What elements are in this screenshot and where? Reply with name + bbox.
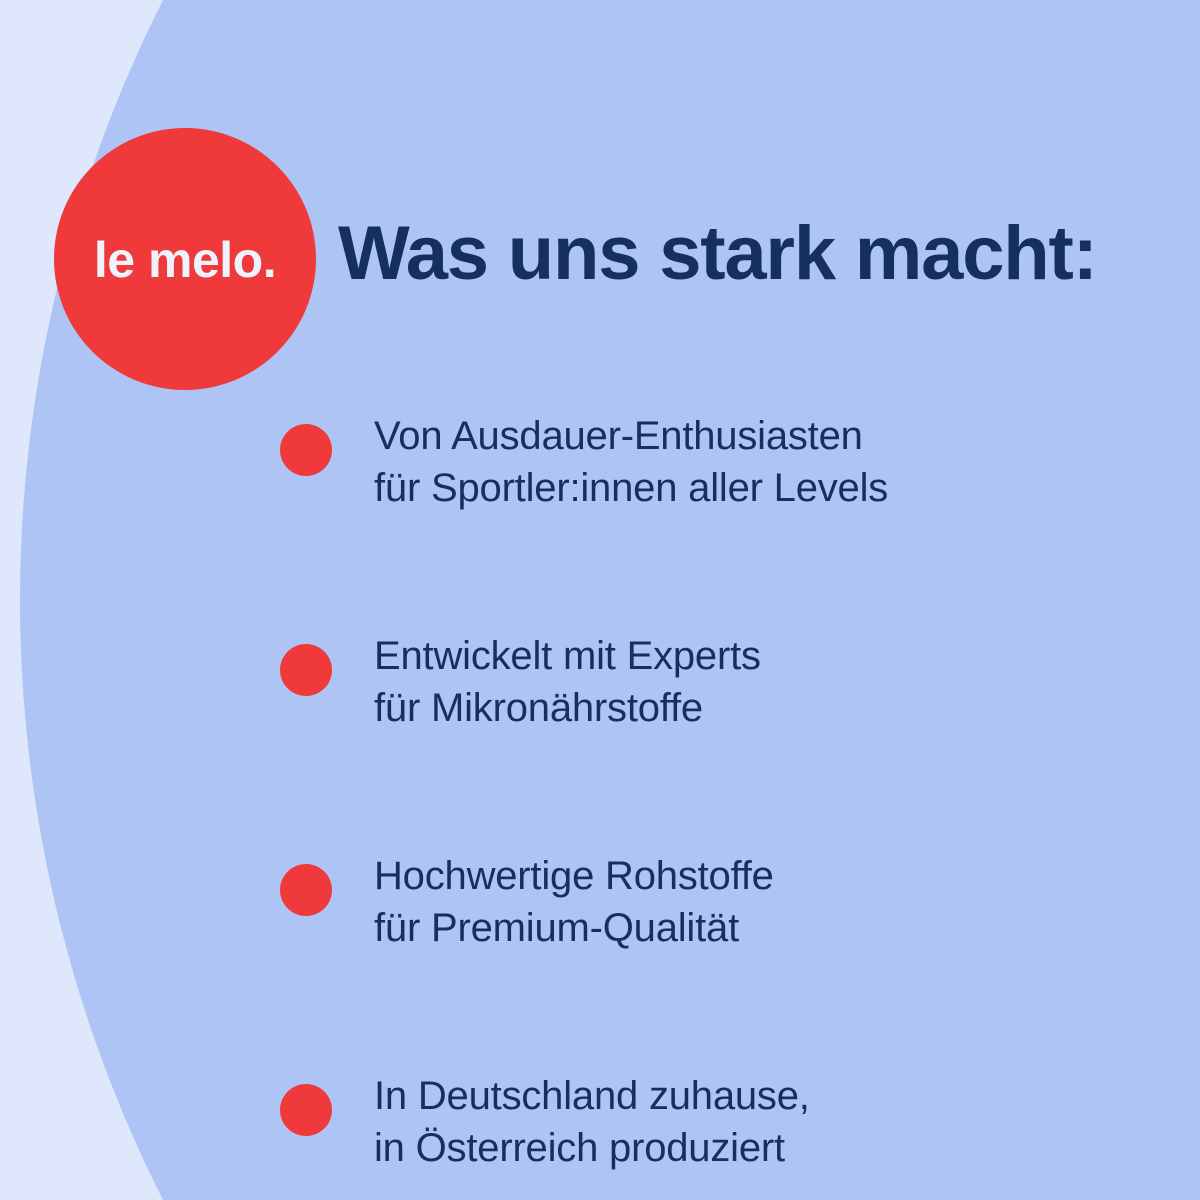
- list-item-line-2: für Premium-Qualität: [374, 902, 774, 954]
- list-item: In Deutschland zuhause, in Österreich pr…: [280, 1070, 1140, 1174]
- list-item-line-1: In Deutschland zuhause,: [374, 1070, 810, 1122]
- list-item-line-1: Hochwertige Rohstoffe: [374, 850, 774, 902]
- list-item-text: Hochwertige Rohstoffe für Premium-Qualit…: [374, 850, 774, 954]
- list-item-text: In Deutschland zuhause, in Österreich pr…: [374, 1070, 810, 1174]
- bullet-dot-icon: [280, 864, 332, 916]
- brand-logo-text: le melo.: [94, 235, 276, 285]
- list-item: Von Ausdauer-Enthusiasten für Sportler:i…: [280, 410, 1140, 514]
- list-item-line-1: Von Ausdauer-Enthusiasten: [374, 410, 888, 462]
- bullet-dot-icon: [280, 1084, 332, 1136]
- promo-graphic: le melo. Was uns stark macht: Von Ausdau…: [0, 0, 1200, 1200]
- benefits-list: Von Ausdauer-Enthusiasten für Sportler:i…: [280, 410, 1140, 1174]
- brand-logo-badge: le melo.: [54, 128, 316, 390]
- list-item-text: Entwickelt mit Experts für Mikronährstof…: [374, 630, 761, 734]
- list-item-line-1: Entwickelt mit Experts: [374, 630, 761, 682]
- list-item: Entwickelt mit Experts für Mikronährstof…: [280, 630, 1140, 734]
- list-item: Hochwertige Rohstoffe für Premium-Qualit…: [280, 850, 1140, 954]
- bullet-dot-icon: [280, 644, 332, 696]
- list-item-line-2: für Sportler:innen aller Levels: [374, 462, 888, 514]
- list-item-line-2: in Österreich produziert: [374, 1122, 810, 1174]
- list-item-text: Von Ausdauer-Enthusiasten für Sportler:i…: [374, 410, 888, 514]
- bullet-dot-icon: [280, 424, 332, 476]
- list-item-line-2: für Mikronährstoffe: [374, 682, 761, 734]
- page-title: Was uns stark macht:: [338, 214, 1097, 294]
